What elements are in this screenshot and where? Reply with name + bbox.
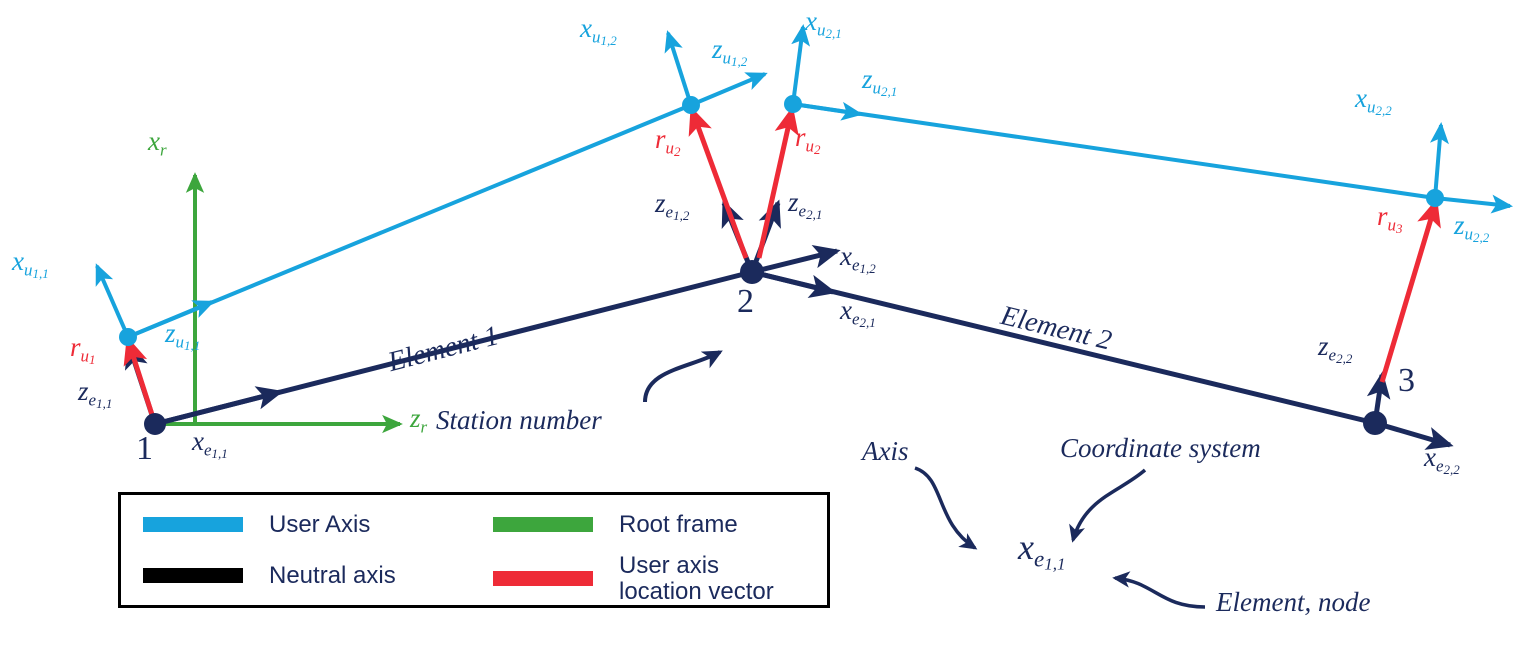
legend-swatch-root-frame <box>493 517 593 532</box>
label-r-u3: ru3 <box>1377 203 1403 235</box>
axis-arrow-z-u21 <box>793 104 860 114</box>
axis-arrow-x-e11 <box>155 392 280 424</box>
legend-swatch-neutral-axis <box>143 568 243 583</box>
label-z-u12: zu1,2 <box>712 36 747 68</box>
label-r-u1: ru1 <box>70 334 96 366</box>
axis-arrow-x-e12 <box>752 251 837 272</box>
annotation-callout-symbol: xe1,1 <box>1018 529 1065 573</box>
neutral-axis-beams <box>155 272 1375 424</box>
user-axis-node-dot-1-1 <box>119 328 137 346</box>
label-z-e12: ze1,2 <box>655 190 689 222</box>
axis-arrow-z-u22 <box>1435 198 1510 206</box>
label-z-e22: ze2,2 <box>1318 333 1352 365</box>
station-number-1: 1 <box>136 432 153 466</box>
location-vector-r-u2-left <box>692 110 746 258</box>
label-z-u11: zu1,1 <box>165 320 200 352</box>
annotation-coordinate-system: Coordinate system <box>1060 435 1261 462</box>
label-r-u2-right: ru2 <box>795 124 821 156</box>
label-x-u12: xu1,2 <box>580 15 617 47</box>
annotation-station-number: Station number <box>436 407 602 434</box>
legend-item-user-axis-location-vector: User axis location vector <box>493 553 774 605</box>
legend-label-root-frame: Root frame <box>619 512 738 538</box>
legend-label-user-axis-location-vector: User axis location vector <box>619 553 774 605</box>
annotation-axis: Axis <box>862 438 909 465</box>
label-x-e11: xe1,1 <box>192 428 228 460</box>
label-x-e12: xe1,2 <box>840 243 876 275</box>
root-frame-axes <box>155 175 400 424</box>
callout-arrow-element-node <box>1115 578 1205 607</box>
label-z-r: zr <box>410 405 427 436</box>
label-x-u22: xu2,2 <box>1355 85 1392 117</box>
axis-arrow-z-u12 <box>691 74 765 105</box>
axis-arrow-x-u21 <box>793 27 803 104</box>
annotation-element-node: Element, node <box>1216 589 1370 616</box>
label-x-r: xr <box>148 128 167 159</box>
label-r-u2-left: ru2 <box>655 126 681 158</box>
legend-label-neutral-axis: Neutral axis <box>269 563 396 589</box>
axis-arrow-x-u11 <box>97 266 128 337</box>
legend-swatch-user-axis-location-vector <box>493 571 593 586</box>
legend-label-user-axis: User Axis <box>269 512 370 538</box>
diagram-canvas: xr zr xu1,1 zu1,1 ru1 ze1,1 xe1,1 1 xu1,… <box>0 0 1524 648</box>
callout-arrow-coordinate-system <box>1073 470 1145 540</box>
user-axis-node-dot-1-2 <box>682 96 700 114</box>
station-node-dot-2 <box>740 260 764 284</box>
user-axis-element-2 <box>793 104 1435 198</box>
location-vector-r-u2-right <box>759 110 792 258</box>
user-axis-node-dot-2-2 <box>1426 189 1444 207</box>
location-vector-r-u1 <box>128 340 155 424</box>
label-z-e21: ze2,1 <box>788 189 822 221</box>
station-number-2: 2 <box>737 285 754 319</box>
axis-arrow-x-u22 <box>1435 125 1441 198</box>
legend-item-root-frame: Root frame <box>493 512 738 538</box>
label-z-u21: zu2,1 <box>862 66 897 98</box>
label-z-u22: zu2,2 <box>1454 212 1489 244</box>
legend-item-user-axis: User Axis <box>143 512 370 538</box>
node-2-user-frame-element-2 <box>784 27 860 114</box>
user-axis-lines <box>128 104 1435 337</box>
label-x-e22: xe2,2 <box>1424 444 1460 476</box>
label-x-e21: xe2,1 <box>840 297 876 329</box>
station-node-dot-3 <box>1363 411 1387 435</box>
callout-arrow-axis <box>915 468 975 548</box>
callout-arrow-station-number <box>645 352 720 402</box>
label-x-u21: xu2,1 <box>805 8 842 40</box>
station-number-3: 3 <box>1398 364 1415 398</box>
legend-item-neutral-axis: Neutral axis <box>143 563 396 589</box>
label-z-e11: ze1,1 <box>78 378 112 410</box>
axis-arrow-x-e21 <box>752 272 833 292</box>
user-axis-node-dot-2-1 <box>784 95 802 113</box>
legend-box: User Axis Neutral axis Root frame User a… <box>118 492 830 608</box>
user-axis-element-1 <box>128 105 691 337</box>
node-3-user-frame <box>1426 125 1510 207</box>
legend-swatch-user-axis <box>143 517 243 532</box>
label-x-u11: xu1,1 <box>12 248 49 280</box>
axis-arrow-x-u12 <box>668 33 691 105</box>
